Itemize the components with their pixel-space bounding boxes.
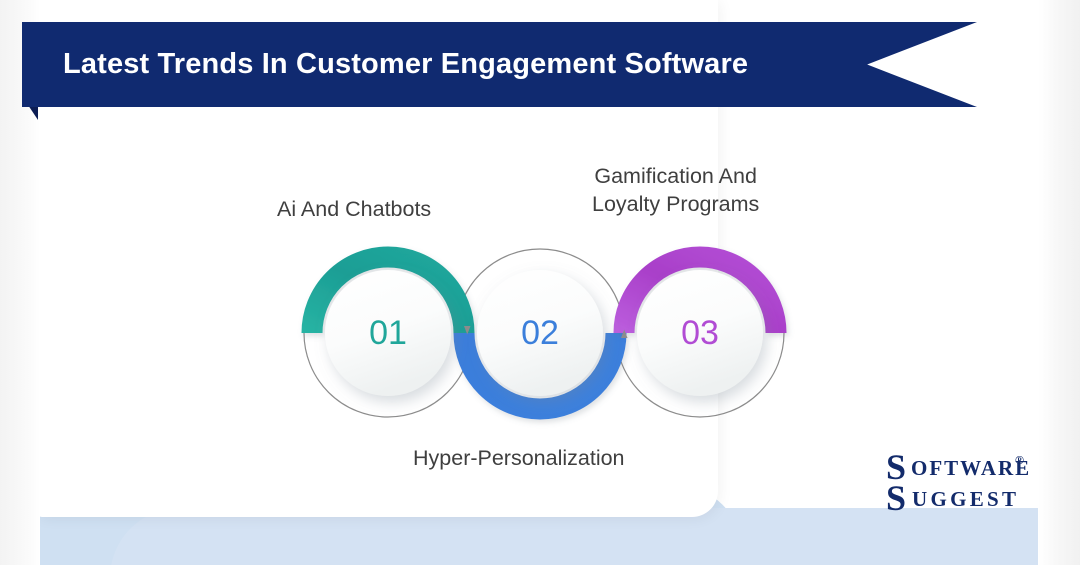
brand-logo-word-1: OFTWARE xyxy=(911,458,1031,479)
process-svg: 01 02 03 xyxy=(0,140,1080,490)
process-diagram: 01 02 03 xyxy=(0,140,1080,490)
registered-mark-icon: ® xyxy=(1015,454,1024,466)
page-title: Latest Trends In Customer Engagement Sof… xyxy=(22,48,748,81)
brand-logo-word-2: UGGEST xyxy=(912,489,1019,510)
infographic-canvas: Latest Trends In Customer Engagement Sof… xyxy=(0,0,1080,565)
step-number-2: 02 xyxy=(521,314,559,352)
step-number-1: 01 xyxy=(369,314,407,352)
step-number-3: 03 xyxy=(681,314,719,352)
header-ribbon: Latest Trends In Customer Engagement Sof… xyxy=(0,0,1080,130)
step-label-3: Gamification And Loyalty Programs xyxy=(592,162,759,218)
brand-logo-initial-2: S xyxy=(886,480,906,516)
step-label-2: Hyper-Personalization xyxy=(413,444,625,472)
step-label-1: Ai And Chatbots xyxy=(277,195,431,223)
ribbon-body: Latest Trends In Customer Engagement Sof… xyxy=(22,22,977,107)
